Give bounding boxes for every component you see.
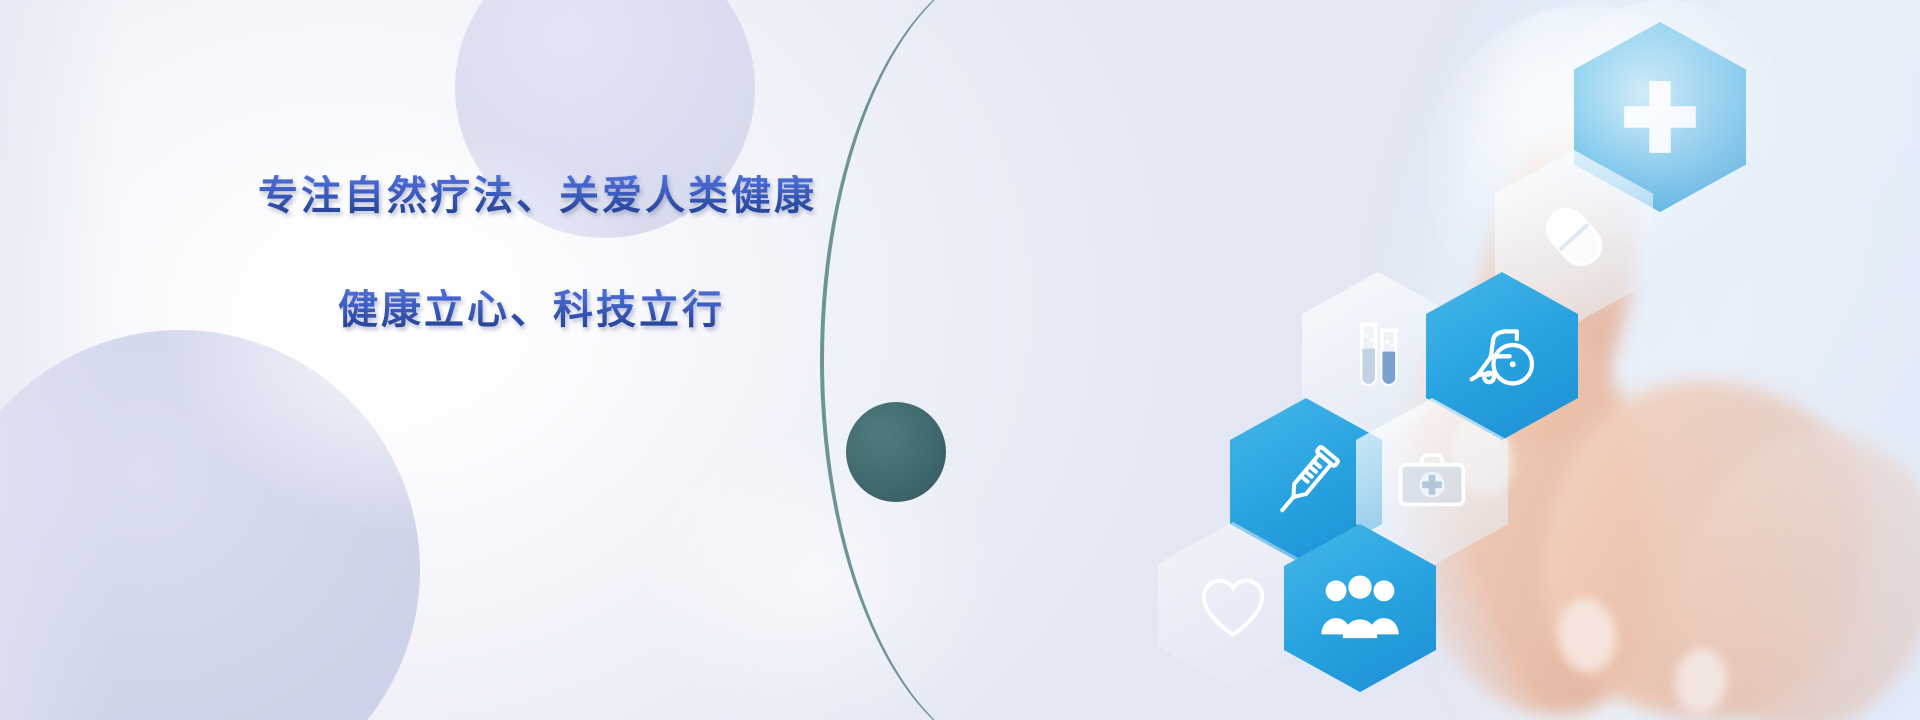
left-edge-fade [0,0,120,720]
headline-line-1: 专注自然疗法、关爱人类健康 [258,175,898,217]
test-tubes-icon [1343,318,1413,394]
medical-health-banner: 专注自然疗法、关爱人类健康 健康立心、科技立行 [0,0,1920,720]
headline-line-2: 健康立心、科技立行 [338,289,898,331]
medical-cross-icon [1617,74,1703,160]
hexagon-icon-cluster [840,0,1920,720]
people-group-icon [1317,572,1403,644]
pill-capsule-icon [1536,199,1612,275]
wheelchair-icon [1461,317,1543,395]
decorative-circle-bottom [0,330,420,720]
first-aid-kit-icon [1392,446,1472,518]
syringe-icon [1264,440,1348,524]
heart-pulse-icon [1195,570,1271,640]
headline-block: 专注自然疗法、关爱人类健康 健康立心、科技立行 [258,175,898,331]
